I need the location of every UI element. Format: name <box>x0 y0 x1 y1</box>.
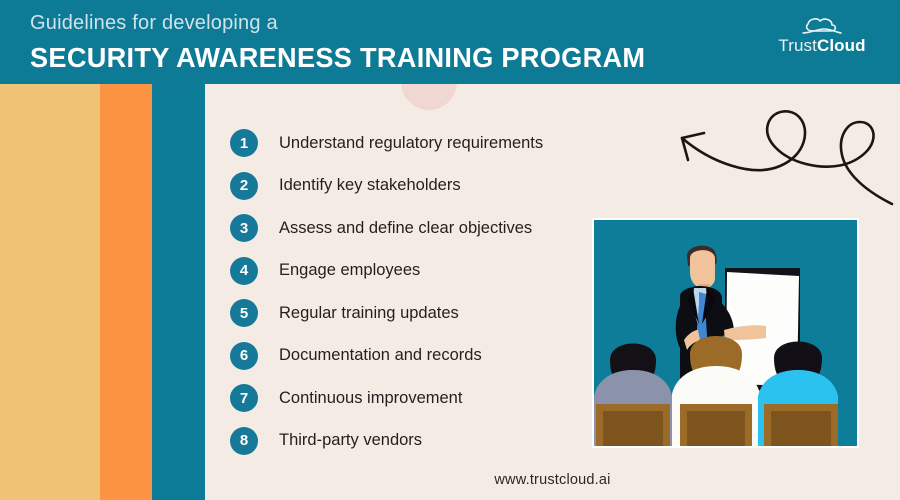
trustcloud-logo[interactable]: TrustCloud <box>764 16 880 64</box>
sidebar-color-bar-teal <box>152 84 205 500</box>
step-number-badge: 8 <box>230 427 258 455</box>
step-label: Regular training updates <box>279 304 459 323</box>
page-title: SECURITY AWARENESS TRAINING PROGRAM <box>30 42 645 74</box>
list-item[interactable]: 2 Identify key stakeholders <box>230 165 610 208</box>
list-item[interactable]: 7 Continuous improvement <box>230 377 610 420</box>
cloud-icon <box>801 16 843 36</box>
step-number-badge: 6 <box>230 342 258 370</box>
step-label: Assess and define clear objectives <box>279 219 532 238</box>
sidebar-color-bar-tan <box>0 84 100 500</box>
sidebar-color-bar-orange <box>100 84 152 500</box>
list-item[interactable]: 4 Engage employees <box>230 250 610 293</box>
step-label: Continuous improvement <box>279 389 462 408</box>
list-item[interactable]: 5 Regular training updates <box>230 292 610 335</box>
step-number-badge: 2 <box>230 172 258 200</box>
steps-list: 1 Understand regulatory requirements 2 I… <box>230 122 610 462</box>
logo-wordmark: TrustCloud <box>778 37 865 54</box>
step-number-badge: 3 <box>230 214 258 242</box>
step-label: Understand regulatory requirements <box>279 134 543 153</box>
pink-arc-shape <box>401 84 457 110</box>
list-item[interactable]: 6 Documentation and records <box>230 335 610 378</box>
logo-word-trust: Trust <box>778 36 817 55</box>
training-presentation-illustration <box>592 218 859 448</box>
header-subtitle: Guidelines for developing a <box>30 12 278 35</box>
step-number-badge: 1 <box>230 129 258 157</box>
list-item[interactable]: 3 Assess and define clear objectives <box>230 207 610 250</box>
poster-canvas: 1 Understand regulatory requirements 2 I… <box>0 0 900 500</box>
step-label: Identify key stakeholders <box>279 176 461 195</box>
content-panel: 1 Understand regulatory requirements 2 I… <box>205 84 900 500</box>
step-label: Documentation and records <box>279 346 482 365</box>
footer-url[interactable]: www.trustcloud.ai <box>205 472 900 488</box>
list-item[interactable]: 8 Third-party vendors <box>230 420 610 463</box>
step-number-badge: 7 <box>230 384 258 412</box>
list-item[interactable]: 1 Understand regulatory requirements <box>230 122 610 165</box>
curly-arrow-left-icon <box>660 100 900 215</box>
step-number-badge: 5 <box>230 299 258 327</box>
step-number-badge: 4 <box>230 257 258 285</box>
header-bar: Guidelines for developing a SECURITY AWA… <box>0 0 900 84</box>
step-label: Third-party vendors <box>279 431 422 450</box>
logo-word-cloud: Cloud <box>817 36 866 55</box>
step-label: Engage employees <box>279 261 420 280</box>
